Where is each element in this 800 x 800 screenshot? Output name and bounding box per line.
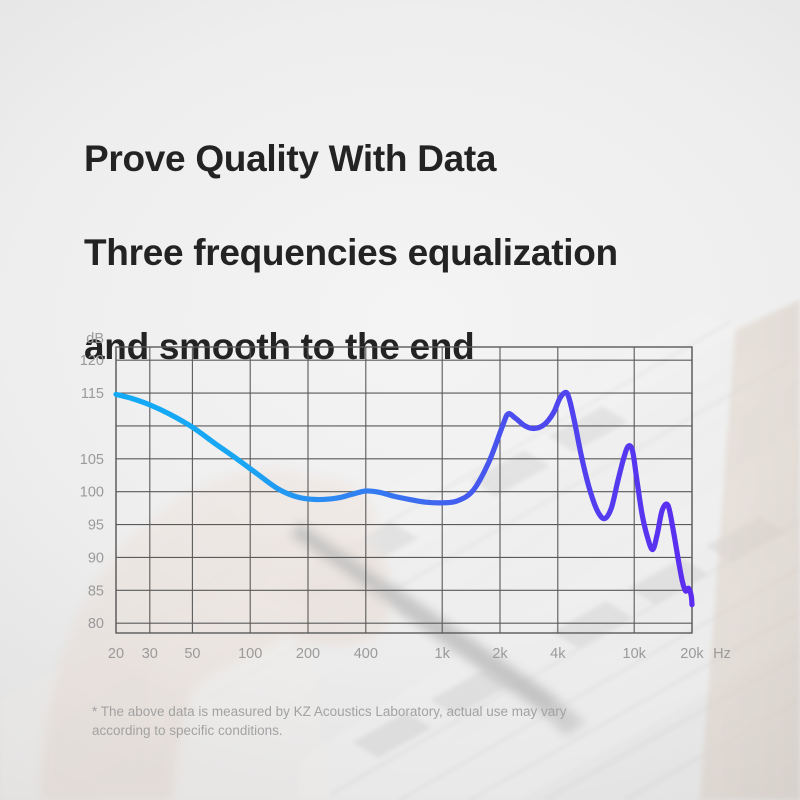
x-axis-tick-label: 4k [550, 646, 566, 662]
y-axis-tick-label: 120 [80, 353, 104, 369]
y-axis-tick-label: 85 [88, 583, 104, 599]
frequency-response-chart: 12011510510095908580dB2030501002004001k2… [0, 0, 800, 800]
y-axis-tick-label: 105 [80, 452, 104, 468]
x-axis-unit-label: Hz [713, 646, 731, 662]
y-axis-tick-label: 115 [81, 386, 104, 402]
y-axis-tick-label: 90 [88, 550, 104, 566]
chart-gridlines [116, 347, 692, 633]
footnote-line-1: * The above data is measured by KZ Acous… [92, 702, 672, 721]
x-axis-tick-label: 50 [184, 646, 200, 662]
x-axis-tick-label: 20k [680, 646, 704, 662]
footnote-line-2: according to specific conditions. [92, 721, 672, 740]
x-axis-tick-label: 10k [623, 646, 647, 662]
x-axis-tick-label: 400 [354, 646, 378, 662]
y-axis-tick-label: 95 [88, 518, 104, 534]
x-axis-tick-label: 30 [142, 646, 158, 662]
y-axis-tick-label: 100 [80, 485, 104, 501]
x-axis-tick-label: 1k [435, 646, 451, 662]
x-axis-tick-label: 20 [108, 646, 124, 662]
y-axis-tick-label: 80 [88, 616, 104, 632]
footnote-disclaimer: * The above data is measured by KZ Acous… [92, 702, 672, 740]
x-axis-tick-label: 100 [238, 646, 262, 662]
y-axis-unit-label: dB [86, 331, 104, 347]
frequency-response-line [116, 392, 692, 604]
x-axis-tick-label: 200 [296, 646, 320, 662]
x-axis-tick-label: 2k [492, 646, 508, 662]
frequency-response-curve [116, 392, 692, 604]
